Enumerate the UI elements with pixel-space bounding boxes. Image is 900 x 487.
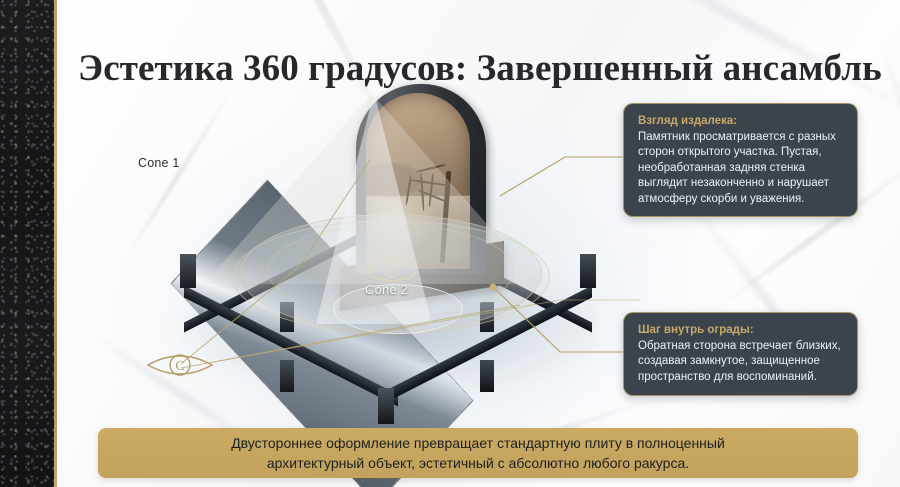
callout-body: Обратная сторона встречает близких, созд…: [638, 339, 844, 385]
granite-side-band: [0, 0, 54, 487]
summary-banner: Двустороннее оформление превращает станд…: [98, 428, 858, 478]
fence-post: [378, 388, 394, 424]
cone-2-label: Cone 2: [365, 282, 408, 297]
svg-text:C: C: [389, 266, 396, 277]
summary-line-2: архитектурный объект, эстетичный с абсол…: [267, 455, 689, 471]
eye-icon: C: [146, 348, 214, 382]
svg-text:C: C: [175, 359, 184, 374]
summary-line-1: Двустороннее оформление превращает станд…: [231, 435, 725, 451]
fence-post: [480, 360, 494, 392]
callout-card-inside-fence[interactable]: Шаг внутрь ограды: Обратная сторона встр…: [623, 312, 858, 396]
callout-body: Памятник просматривается с разных сторон…: [638, 130, 844, 207]
fence-post: [280, 360, 294, 392]
callout-heading: Взгляд издалека:: [638, 114, 844, 129]
memorial-3d-scene: Cone 1 C Cone 2: [150, 72, 630, 412]
gold-divider-line: [54, 0, 57, 487]
callout-card-distant-view[interactable]: Взгляд издалека: Памятник просматриваетс…: [623, 103, 858, 217]
slide-canvas: Эстетика 360 градусов: Завершенный ансам…: [0, 0, 900, 487]
callout-heading: Шаг внутрь ограды:: [638, 323, 844, 338]
fence-post: [180, 254, 196, 288]
fence-post: [580, 254, 596, 288]
cone-1-label: Cone 1: [138, 156, 180, 170]
summary-banner-text: Двустороннее оформление превращает станд…: [231, 433, 725, 473]
eye-icon: C: [366, 258, 418, 282]
